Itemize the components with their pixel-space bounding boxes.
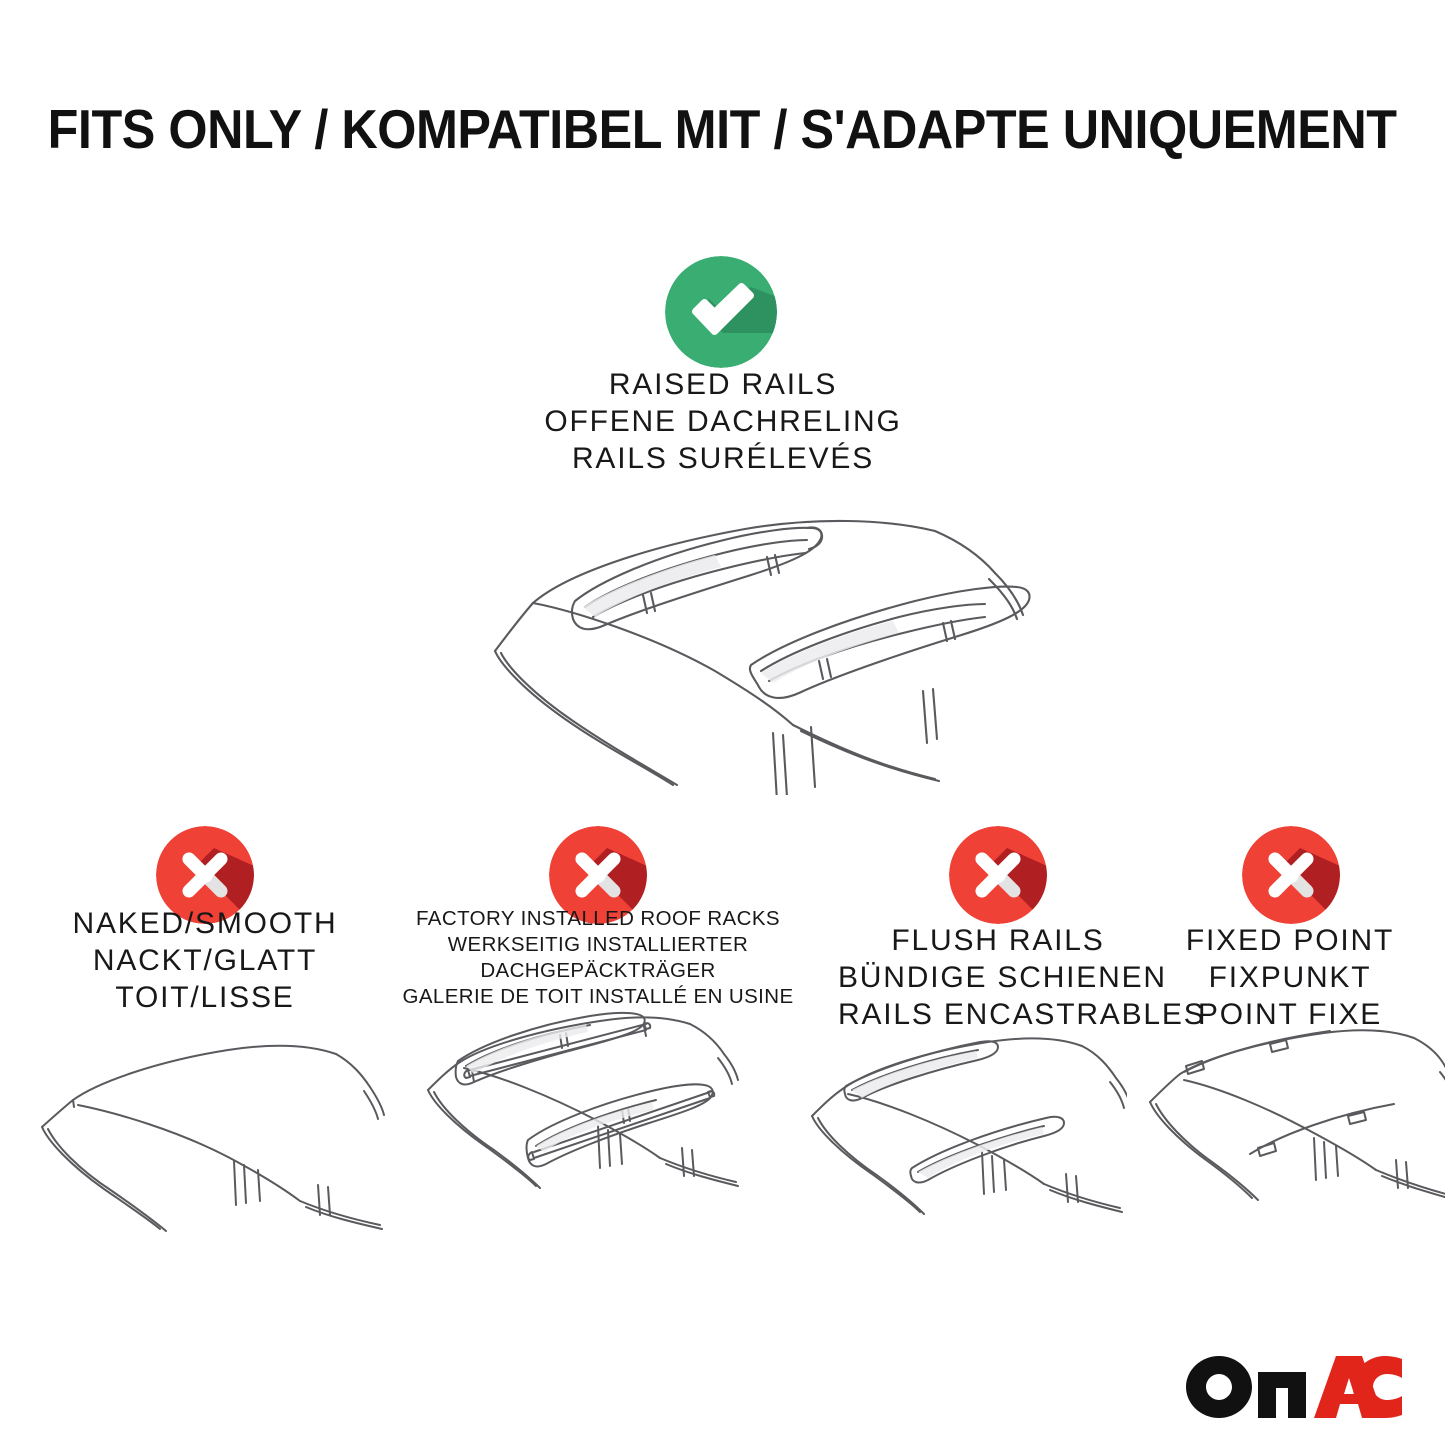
car-roof-factory-roof-racks-illustration [400, 1010, 745, 1242]
omac-logo [1186, 1356, 1402, 1418]
incompatible-4-line-1: FIXED POINT [1140, 922, 1440, 959]
check-circle-icon [665, 256, 777, 368]
incompatible-caption-1: NAKED/SMOOTH NACKT/GLATT TOIT/LISSE [45, 905, 365, 1016]
incompatible-4-line-2: FIXPUNKT [1140, 959, 1440, 996]
incompatible-caption-3: FLUSH RAILS BÜNDIGE SCHIENEN RAILS ENCAS… [838, 922, 1158, 1033]
incompatible-caption-2: FACTORY INSTALLED ROOF RACKS WERKSEITIG … [348, 906, 848, 1010]
compatible-line-3: RAILS SURÉLEVÉS [443, 440, 1003, 477]
page-title-text: FITS ONLY / KOMPATIBEL MIT / S'ADAPTE UN… [48, 102, 1397, 157]
incompatible-caption-4: FIXED POINT FIXPUNKT POINT FIXE [1140, 922, 1440, 1033]
incompatible-2-line-2: WERKSEITIG INSTALLIERTER [348, 932, 848, 958]
incompatible-3-line-2: BÜNDIGE SCHIENEN [838, 959, 1158, 996]
page-title: FITS ONLY / KOMPATIBEL MIT / S'ADAPTE UN… [0, 96, 1445, 162]
car-roof-fixed-point-illustration [1140, 1022, 1445, 1240]
compatible-line-1: RAISED RAILS [443, 366, 1003, 403]
cross-circle-icon [1242, 826, 1340, 924]
incompatible-2-line-3: DACHGEPÄCKTRÄGER [348, 958, 848, 984]
incompatible-1-line-1: NAKED/SMOOTH [45, 905, 365, 942]
compatible-caption: RAISED RAILS OFFENE DACHRELING RAILS SUR… [443, 366, 1003, 477]
incompatible-1-line-3: TOIT/LISSE [45, 979, 365, 1016]
car-roof-flush-rails-illustration [782, 1028, 1127, 1240]
compatible-line-2: OFFENE DACHRELING [443, 403, 1003, 440]
incompatible-3-line-1: FLUSH RAILS [838, 922, 1158, 959]
car-roof-raised-rails-illustration [415, 495, 1035, 795]
incompatible-2-line-4: GALERIE DE TOIT INSTALLÉ EN USINE [348, 984, 848, 1010]
incompatible-1-line-2: NACKT/GLATT [45, 942, 365, 979]
cross-circle-icon [949, 826, 1047, 924]
car-roof-naked-smooth-illustration [18, 1025, 388, 1240]
incompatible-2-line-1: FACTORY INSTALLED ROOF RACKS [348, 906, 848, 932]
